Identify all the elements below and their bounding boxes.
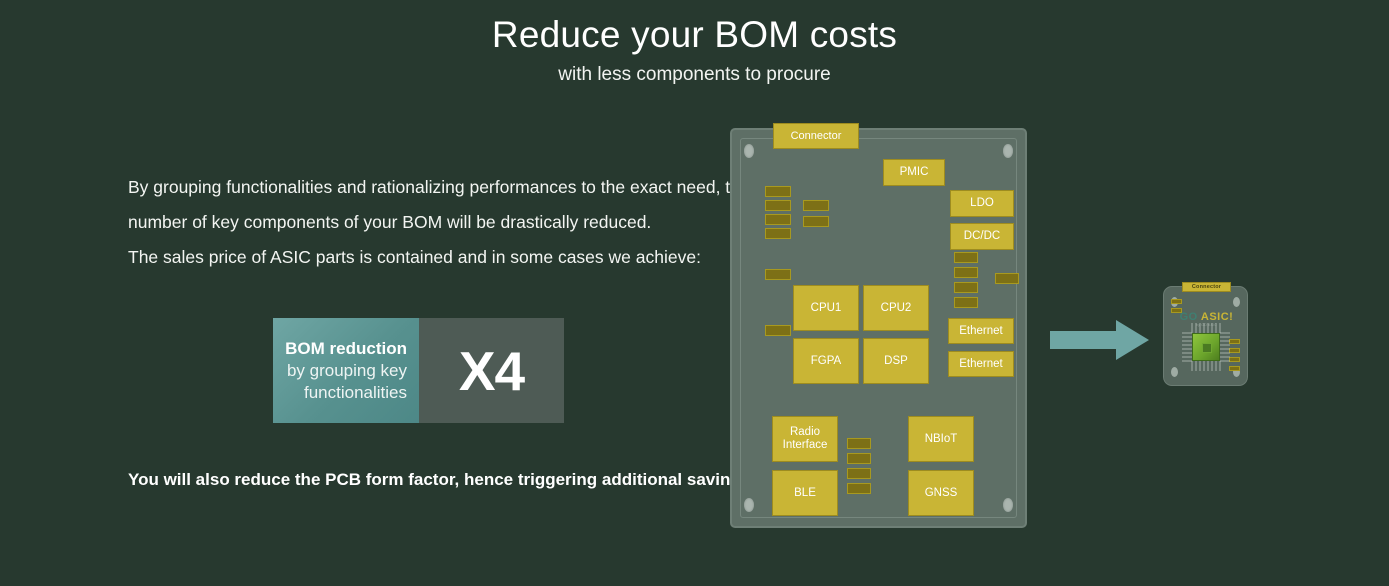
smd-pad xyxy=(765,325,791,336)
mounting-hole-icon xyxy=(1003,498,1013,512)
mounting-hole-icon xyxy=(1233,297,1240,307)
page-title: Reduce your BOM costs xyxy=(0,14,1389,56)
chip-ldo: LDO xyxy=(950,190,1014,217)
chip-fpga: FGPA xyxy=(793,338,859,384)
single-asic-board: Connector GO ASIC! by GO ASIC xyxy=(1163,286,1248,386)
body-line-1: By grouping functionalities and rational… xyxy=(128,170,718,205)
board-connector: Connector xyxy=(773,123,859,149)
chip-ble: BLE xyxy=(772,470,838,516)
footnote-text: You will also reduce the PCB form factor… xyxy=(128,470,768,490)
kpi-value-panel: X4 xyxy=(419,318,564,423)
mounting-hole-icon xyxy=(1003,144,1013,158)
chip-dcdc: DC/DC xyxy=(950,223,1014,250)
smd-pad xyxy=(847,468,871,479)
smd-pad xyxy=(803,200,829,211)
kpi-sub-line-1: by grouping key xyxy=(287,360,407,382)
kpi-heading: BOM reduction xyxy=(285,338,407,360)
kpi-sub-line-2: functionalities xyxy=(304,382,407,404)
chip-radio-interface-line-1: Radio xyxy=(790,426,820,439)
mounting-hole-icon xyxy=(744,498,754,512)
smd-pad xyxy=(765,269,791,280)
discrete-components-board: PMIC LDO DC/DC CPU1 CPU2 FGPA DSP Ethern… xyxy=(730,128,1027,528)
mounting-hole-icon xyxy=(1171,367,1178,377)
smd-pad xyxy=(995,273,1019,284)
transform-arrow xyxy=(1050,318,1150,362)
chip-ethernet-2: Ethernet xyxy=(948,351,1014,377)
body-copy: By grouping functionalities and rational… xyxy=(128,170,718,275)
chip-cpu2: CPU2 xyxy=(863,285,929,331)
chip-dsp: DSP xyxy=(863,338,929,384)
slide-root: Reduce your BOM costs with less componen… xyxy=(0,0,1389,586)
page-subtitle: with less components to procure xyxy=(0,64,1389,86)
arrow-right-icon xyxy=(1050,318,1150,362)
chip-radio-interface-line-2: Interface xyxy=(783,439,828,452)
mounting-hole-icon xyxy=(744,144,754,158)
chip-radio-interface: Radio Interface xyxy=(772,416,838,462)
asic-board-connector: Connector xyxy=(1182,282,1231,292)
chip-ethernet-1: Ethernet xyxy=(948,318,1014,344)
smd-pad xyxy=(847,438,871,449)
chip-gnss: GNSS xyxy=(908,470,974,516)
body-line-2: number of key components of your BOM wil… xyxy=(128,205,718,240)
bom-reduction-kpi: BOM reduction by grouping key functional… xyxy=(273,318,564,423)
smd-pad xyxy=(803,216,829,227)
asic-die xyxy=(1192,333,1220,361)
smd-pad xyxy=(847,453,871,464)
smd-pad xyxy=(954,267,978,278)
asic-die-core xyxy=(1202,343,1212,353)
smd-pad xyxy=(847,483,871,494)
smd-pad xyxy=(954,282,978,293)
smd-pad xyxy=(765,186,791,197)
kpi-description-panel: BOM reduction by grouping key functional… xyxy=(273,318,419,423)
smd-pad xyxy=(765,228,791,239)
smd-pad xyxy=(1171,299,1182,304)
kpi-value: X4 xyxy=(459,339,524,403)
chip-cpu1: CPU1 xyxy=(793,285,859,331)
smd-pad xyxy=(765,214,791,225)
smd-pad xyxy=(765,200,791,211)
body-line-3: The sales price of ASIC parts is contain… xyxy=(128,240,718,275)
chip-pmic: PMIC xyxy=(883,159,945,186)
smd-pad xyxy=(954,297,978,308)
smd-pad xyxy=(954,252,978,263)
chip-nbiot: NBIoT xyxy=(908,416,974,462)
